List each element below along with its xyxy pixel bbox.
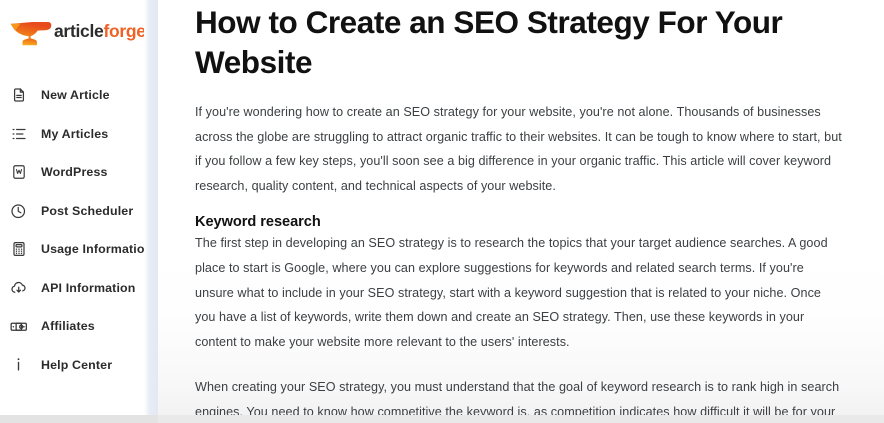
sidebar-item-label: Post Scheduler: [41, 204, 133, 218]
sidebar-item-label: Usage Information: [41, 242, 152, 256]
document-icon: [9, 86, 28, 105]
sidebar-item-post-scheduler[interactable]: Post Scheduler: [0, 192, 157, 231]
sidebar-nav: New Article My Articles: [0, 62, 157, 384]
banknote-icon: [9, 317, 28, 336]
section-heading-keyword-research: Keyword research: [195, 214, 862, 230]
sidebar: articleforge New Article: [0, 0, 158, 423]
article-paragraph-1: The first step in developing an SEO stra…: [195, 231, 845, 354]
brand-name-article: article: [54, 21, 103, 41]
sidebar-item-affiliates[interactable]: Affiliates: [0, 307, 157, 346]
sidebar-item-label: New Article: [41, 88, 110, 102]
brand-logo[interactable]: articleforge: [0, 0, 157, 62]
cloud-download-icon: [9, 278, 28, 297]
sidebar-item-my-articles[interactable]: My Articles: [0, 115, 157, 154]
anvil-icon: [9, 14, 53, 48]
brand-name-forge: forge: [103, 21, 145, 41]
sidebar-item-label: Help Center: [41, 358, 112, 372]
sidebar-item-label: WordPress: [41, 165, 108, 179]
article-content-area: How to Create an SEO Strategy For Your W…: [158, 0, 884, 423]
app-root: articleforge New Article: [0, 0, 884, 423]
brand-name: articleforge: [54, 21, 146, 42]
sidebar-item-label: API Information: [41, 281, 136, 295]
sidebar-item-label: Affiliates: [41, 319, 95, 333]
article-intro-paragraph: If you're wondering how to create an SEO…: [195, 100, 845, 198]
sidebar-item-help-center[interactable]: Help Center: [0, 346, 157, 385]
wordpress-icon: [9, 163, 28, 182]
clock-icon: [9, 201, 28, 220]
calculator-icon: [9, 240, 28, 259]
article: How to Create an SEO Strategy For Your W…: [158, 0, 884, 423]
info-icon: [9, 355, 28, 374]
sidebar-item-usage-information[interactable]: Usage Information: [0, 230, 157, 269]
sidebar-item-new-article[interactable]: New Article: [0, 76, 157, 115]
list-icon: [9, 124, 28, 143]
sidebar-item-api-information[interactable]: API Information: [0, 269, 157, 308]
sidebar-item-wordpress[interactable]: WordPress: [0, 153, 157, 192]
page-title: How to Create an SEO Strategy For Your W…: [195, 0, 820, 82]
sidebar-item-label: My Articles: [41, 127, 108, 141]
bottom-band-sidebar: [0, 415, 158, 423]
